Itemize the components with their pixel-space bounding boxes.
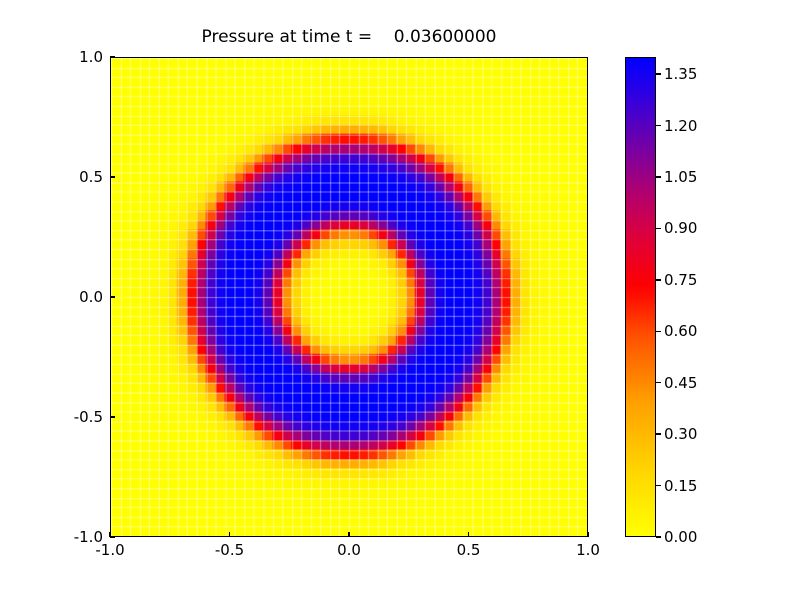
colorbar-tick-mark xyxy=(656,176,661,177)
colorbar-tick-mark xyxy=(656,536,661,537)
colorbar-tick-label: 1.05 xyxy=(664,168,697,186)
heatmap-axes xyxy=(110,57,588,537)
page-title: Pressure at time t = 0.03600000 xyxy=(110,27,588,47)
x-tick-label: -0.5 xyxy=(215,541,244,559)
y-tick-mark xyxy=(110,416,115,417)
pressure-field-heatmap xyxy=(111,58,587,536)
y-tick-mark xyxy=(110,56,115,57)
y-tick-label: 0.0 xyxy=(48,288,103,306)
colorbar-gradient xyxy=(626,58,655,536)
x-tick-mark xyxy=(229,532,230,537)
colorbar-tick-mark xyxy=(656,485,661,486)
x-tick-label: 0.0 xyxy=(337,541,361,559)
colorbar-tick-mark xyxy=(656,73,661,74)
x-tick-mark xyxy=(348,532,349,537)
colorbar-tick-label: 1.20 xyxy=(664,117,697,135)
y-tick-label: 0.5 xyxy=(48,168,103,186)
colorbar-tick-mark xyxy=(656,382,661,383)
colorbar xyxy=(625,57,656,537)
colorbar-tick-label: 0.60 xyxy=(664,322,697,340)
y-tick-label: 1.0 xyxy=(48,48,103,66)
colorbar-tick-label: 0.90 xyxy=(664,219,697,237)
y-tick-label: -1.0 xyxy=(48,528,103,546)
y-tick-label: -0.5 xyxy=(48,408,103,426)
y-tick-mark xyxy=(110,536,115,537)
colorbar-tick-mark xyxy=(656,228,661,229)
y-tick-mark xyxy=(110,296,115,297)
x-tick-mark xyxy=(587,532,588,537)
colorbar-tick-label: 1.35 xyxy=(664,65,697,83)
colorbar-tick-mark xyxy=(656,125,661,126)
x-tick-mark xyxy=(468,532,469,537)
colorbar-tick-label: 0.45 xyxy=(664,374,697,392)
colorbar-tick-label: 0.00 xyxy=(664,528,697,546)
y-tick-mark xyxy=(110,176,115,177)
colorbar-tick-mark xyxy=(656,433,661,434)
colorbar-tick-mark xyxy=(656,331,661,332)
colorbar-tick-label: 0.75 xyxy=(664,271,697,289)
x-tick-label: 1.0 xyxy=(576,541,600,559)
colorbar-tick-label: 0.15 xyxy=(664,477,697,495)
matplotlib-figure: Pressure at time t = 0.03600000 -1.0-0.5… xyxy=(0,0,800,600)
colorbar-tick-label: 0.30 xyxy=(664,425,697,443)
colorbar-tick-mark xyxy=(656,279,661,280)
x-tick-label: 0.5 xyxy=(457,541,481,559)
